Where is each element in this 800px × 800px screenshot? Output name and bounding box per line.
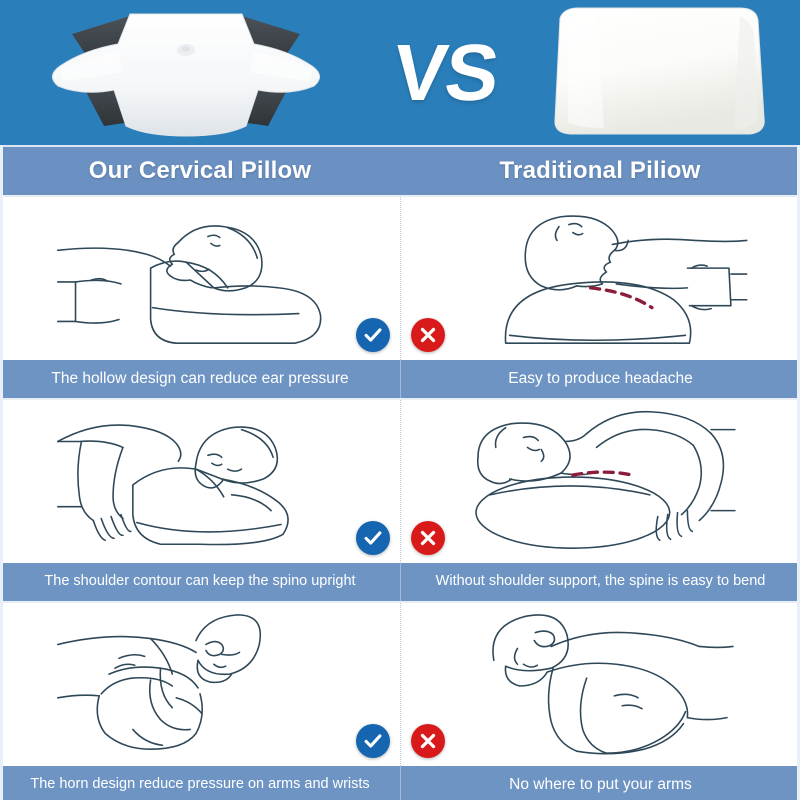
comparison-row: The horn design reduce pressure on arms …: [0, 601, 800, 800]
check-icon: [362, 324, 384, 346]
traditional-pillow-title: Traditional Piliow: [500, 157, 701, 185]
cross-badge: [411, 724, 445, 758]
traditional-pillow-photo: [544, 0, 774, 145]
illustration-side-sleeper-shoulder-contour: [0, 400, 400, 563]
caption-cell: Easy to produce headache: [400, 360, 800, 398]
illustration-arms-nowhere-to-rest: [400, 603, 800, 766]
illustration-supine-on-flat-pillow: [400, 197, 800, 360]
title-band: Our Cervical Pillow Traditional Piliow: [0, 145, 800, 195]
page-edge-left: [0, 145, 3, 800]
caption-text: The hollow design can reduce ear pressur…: [51, 370, 348, 387]
check-badge: [356, 521, 390, 555]
hero-banner: VS: [0, 0, 800, 145]
title-cell-left: Our Cervical Pillow: [0, 147, 400, 195]
caption-text: The horn design reduce pressure on arms …: [30, 777, 369, 793]
cross-icon: [417, 527, 439, 549]
caption-cell: The shoulder contour can keep the spino …: [0, 563, 400, 601]
caption-text: The shoulder contour can keep the spino …: [44, 574, 355, 590]
spine-bend-marker: [591, 288, 652, 308]
our-pillow-title: Our Cervical Pillow: [89, 157, 312, 185]
caption-cell: No where to put your arms: [400, 766, 800, 800]
vs-label: VS: [389, 33, 500, 113]
comparison-rows: The hollow design can reduce ear pressur…: [0, 195, 800, 800]
illustration-supine-on-cervical-pillow: [0, 197, 400, 360]
comparison-row: The hollow design can reduce ear pressur…: [0, 195, 800, 398]
check-badge: [356, 318, 390, 352]
check-badge: [356, 724, 390, 758]
comparison-infographic: VS Our Cervica: [0, 0, 800, 800]
check-icon: [362, 730, 384, 752]
title-cell-right: Traditional Piliow: [400, 147, 800, 195]
cross-icon: [417, 730, 439, 752]
caption-cell: The horn design reduce pressure on arms …: [0, 766, 400, 800]
spine-bend-marker: [573, 472, 632, 475]
illustration-side-sleeper-no-support: [400, 400, 800, 563]
check-icon: [362, 527, 384, 549]
caption-cell: Without shoulder support, the spine is e…: [400, 563, 800, 601]
comparison-row: The shoulder contour can keep the spino …: [0, 398, 800, 601]
caption-text: No where to put your arms: [509, 776, 692, 793]
caption-cell: The hollow design can reduce ear pressur…: [0, 360, 400, 398]
illustration-arms-in-horn-cutout: [0, 603, 400, 766]
cross-badge: [411, 521, 445, 555]
caption-text: Easy to produce headache: [508, 370, 692, 387]
cross-icon: [417, 324, 439, 346]
caption-text: Without shoulder support, the spine is e…: [436, 574, 766, 590]
cervical-pillow-photo: [26, 0, 346, 145]
cross-badge: [411, 318, 445, 352]
